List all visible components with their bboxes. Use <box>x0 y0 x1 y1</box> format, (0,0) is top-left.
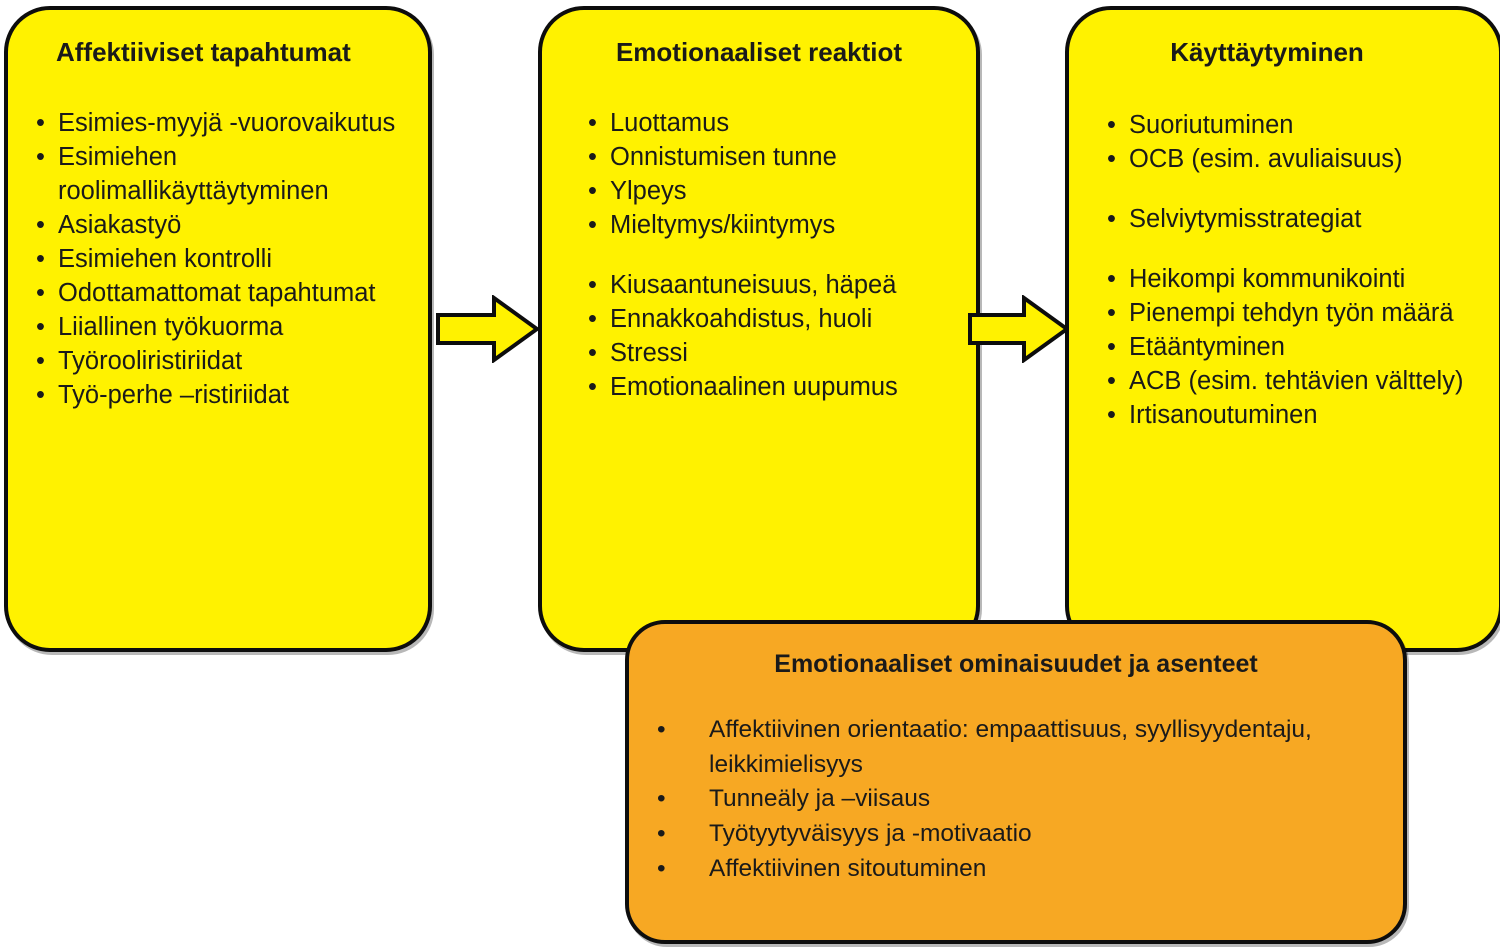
bullet-icon: • <box>657 713 666 748</box>
list-item: •Luottamus <box>588 106 968 140</box>
list-item-label: Stressi <box>610 339 688 367</box>
bullet-icon: • <box>36 208 45 242</box>
bullet-icon: • <box>36 140 45 174</box>
box-emotional-reactions: Emotionaaliset reaktiot •Luottamus •Onni… <box>538 6 980 652</box>
list-item: •Selviytymisstrategiat <box>1107 202 1499 236</box>
bullet-icon: • <box>588 336 597 370</box>
box-affective-events-list: •Esimies-myyjä -vuorovaikutus •Esimiehen… <box>36 106 416 412</box>
list-item: •Kiusaantuneisuus, häpeä <box>588 268 968 302</box>
list-item: •Työ-perhe –ristiriidat <box>36 378 416 412</box>
arrow-events-to-reactions <box>436 295 540 363</box>
bullet-icon: • <box>657 852 666 887</box>
list-item: •Pienempi tehdyn työn määrä <box>1107 296 1499 330</box>
list-item: •Ennakkoahdistus, huoli <box>588 302 968 336</box>
bullet-icon: • <box>657 782 666 817</box>
list-item: •Työtyytyväisyys ja -motivaatio <box>657 817 1377 852</box>
box-emotional-reactions-list: •Luottamus •Onnistumisen tunne •Ylpeys •… <box>588 106 968 404</box>
arrow-reactions-to-behaviour <box>968 295 1070 363</box>
bullet-icon: • <box>1107 296 1116 330</box>
bullet-icon: • <box>36 310 45 344</box>
list-item-label: Mieltymys/kiintymys <box>610 211 835 239</box>
list-item-label: Irtisanoutuminen <box>1129 401 1318 429</box>
list-item-label: Heikompi kommunikointi <box>1129 265 1405 293</box>
bullet-icon: • <box>588 268 597 302</box>
box-behaviour: Käyttäytyminen •Suoriutuminen •OCB (esim… <box>1065 6 1500 652</box>
box-emotional-traits-title: Emotionaaliset ominaisuudet ja asenteet <box>629 650 1403 679</box>
bullet-icon: • <box>657 817 666 852</box>
list-item: •OCB (esim. avuliaisuus) <box>1107 142 1499 176</box>
list-item: •Heikompi kommunikointi <box>1107 262 1499 296</box>
list-item-label: Affektiivinen sitoutuminen <box>709 855 986 882</box>
list-item: •Suoriutuminen <box>1107 108 1499 142</box>
right-arrow-icon <box>436 295 540 363</box>
bullet-icon: • <box>36 344 45 378</box>
list-item: •Etääntyminen <box>1107 330 1499 364</box>
list-item: •Mieltymys/kiintymys <box>588 208 968 242</box>
list-item-label: Kiusaantuneisuus, häpeä <box>610 271 896 299</box>
list-item: •Esimies-myyjä -vuorovaikutus <box>36 106 416 140</box>
list-item-label: Työtyytyväisyys ja -motivaatio <box>709 820 1032 847</box>
list-item: •Affektiivinen orientaatio: empaattisuus… <box>657 713 1377 783</box>
list-item-label: Tunneäly ja –viisaus <box>709 785 930 812</box>
list-item: •Esimiehen kontrolli <box>36 242 416 276</box>
list-item: •Stressi <box>588 336 968 370</box>
bullet-icon: • <box>1107 142 1116 176</box>
list-item: •Liiallinen työkuorma <box>36 310 416 344</box>
list-item-label: Ennakkoahdistus, huoli <box>610 305 872 333</box>
box-affective-events: Affektiiviset tapahtumat •Esimies-myyjä … <box>4 6 432 652</box>
list-item-label: Työ-perhe –ristiriidat <box>58 381 289 409</box>
list-item: •Tunneäly ja –viisaus <box>657 782 1377 817</box>
diagram-canvas: Affektiiviset tapahtumat •Esimies-myyjä … <box>0 0 1500 948</box>
list-item: •Työrooliristiriidat <box>36 344 416 378</box>
list-item-label: Esimiehen kontrolli <box>58 245 272 273</box>
list-item-label: Emotionaalinen uupumus <box>610 373 898 401</box>
box-emotional-traits: Emotionaaliset ominaisuudet ja asenteet … <box>625 620 1407 944</box>
list-item: •Onnistumisen tunne <box>588 140 968 174</box>
list-item-label: Esimiehen roolimallikäyttäytyminen <box>58 143 329 205</box>
list-item-label: Onnistumisen tunne <box>610 143 837 171</box>
list-item-label: Odottamattomat tapahtumat <box>58 279 376 307</box>
list-item: •Esimiehen roolimallikäyttäytyminen <box>36 140 416 208</box>
list-item: •Emotionaalinen uupumus <box>588 370 968 404</box>
list-item: •ACB (esim. tehtävien välttely) <box>1107 364 1499 398</box>
list-item-label: Luottamus <box>610 109 729 137</box>
list-group-spacer <box>1107 236 1499 262</box>
bullet-icon: • <box>1107 364 1116 398</box>
list-item-label: Pienempi tehdyn työn määrä <box>1129 299 1454 327</box>
bullet-icon: • <box>588 370 597 404</box>
list-item-label: Ylpeys <box>610 177 687 205</box>
list-item: •Affektiivinen sitoutuminen <box>657 852 1377 887</box>
list-item: •Irtisanoutuminen <box>1107 398 1499 432</box>
list-item-label: Liiallinen työkuorma <box>58 313 283 341</box>
bullet-icon: • <box>1107 330 1116 364</box>
box-affective-events-title: Affektiiviset tapahtumat <box>56 38 428 68</box>
list-item: •Asiakastyö <box>36 208 416 242</box>
list-item-label: Esimies-myyjä -vuorovaikutus <box>58 109 395 137</box>
bullet-icon: • <box>1107 202 1116 236</box>
list-item-label: Affektiivinen orientaatio: empaattisuus,… <box>709 716 1312 778</box>
bullet-icon: • <box>36 106 45 140</box>
bullet-icon: • <box>588 174 597 208</box>
bullet-icon: • <box>1107 262 1116 296</box>
list-group-spacer <box>588 242 968 268</box>
bullet-icon: • <box>36 242 45 276</box>
list-group-spacer <box>1107 176 1499 202</box>
box-behaviour-list: •Suoriutuminen •OCB (esim. avuliaisuus) … <box>1107 108 1499 432</box>
list-item-label: Suoriutuminen <box>1129 111 1293 139</box>
list-item: •Odottamattomat tapahtumat <box>36 276 416 310</box>
box-emotional-reactions-title: Emotionaaliset reaktiot <box>542 38 976 68</box>
right-arrow-icon <box>968 295 1070 363</box>
list-item-label: Etääntyminen <box>1129 333 1285 361</box>
bullet-icon: • <box>36 378 45 412</box>
bullet-icon: • <box>588 140 597 174</box>
list-item-label: ACB (esim. tehtävien välttely) <box>1129 367 1463 395</box>
bullet-icon: • <box>1107 398 1116 432</box>
list-item-label: Asiakastyö <box>58 211 181 239</box>
list-item-label: Selviytymisstrategiat <box>1129 205 1361 233</box>
list-item-label: OCB (esim. avuliaisuus) <box>1129 145 1403 173</box>
box-emotional-traits-list: •Affektiivinen orientaatio: empaattisuus… <box>657 713 1377 887</box>
bullet-icon: • <box>588 302 597 336</box>
bullet-icon: • <box>36 276 45 310</box>
box-behaviour-title: Käyttäytyminen <box>1069 38 1465 68</box>
bullet-icon: • <box>588 208 597 242</box>
list-item-label: Työrooliristiriidat <box>58 347 242 375</box>
list-item: •Ylpeys <box>588 174 968 208</box>
bullet-icon: • <box>588 106 597 140</box>
bullet-icon: • <box>1107 108 1116 142</box>
